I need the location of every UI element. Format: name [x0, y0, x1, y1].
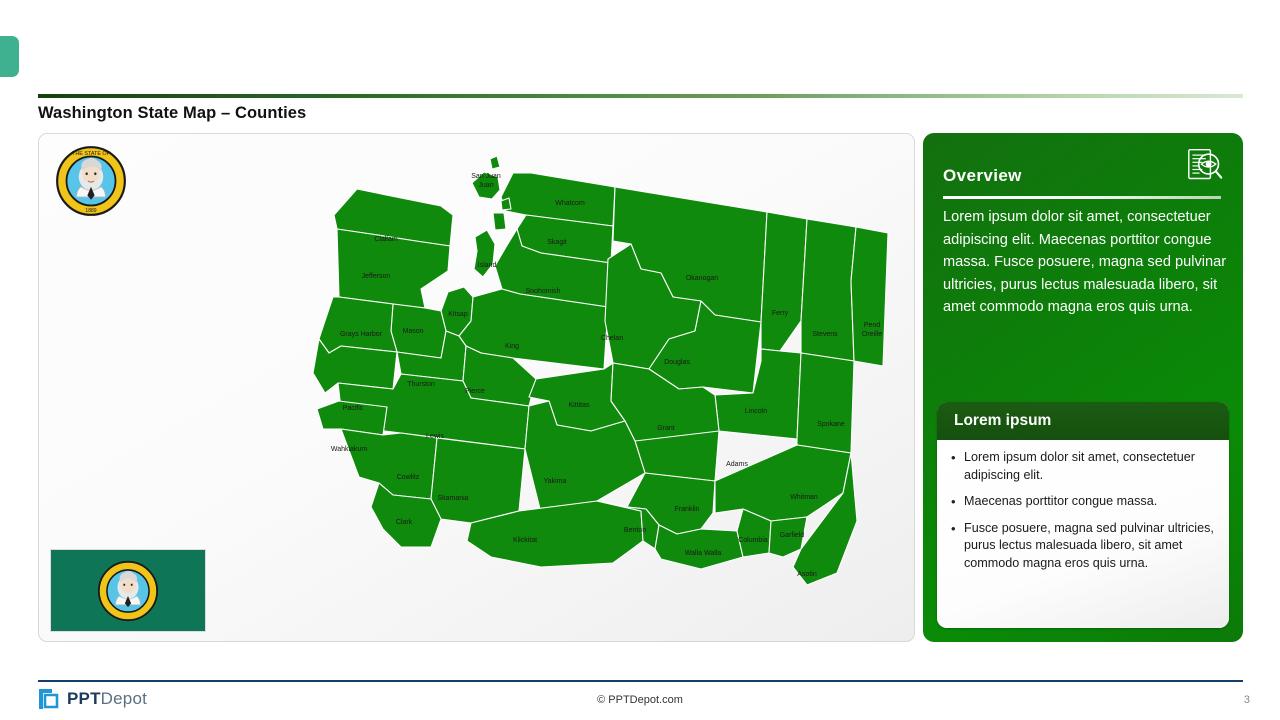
county-label: Mason [402, 328, 423, 335]
footer-divider-rule [38, 680, 1243, 682]
svg-text:THE STATE OF: THE STATE OF [72, 151, 111, 157]
county-label: Garfield [780, 532, 805, 539]
county-label: Yakima [544, 478, 567, 485]
document-review-icon [1185, 147, 1225, 183]
county-label: Douglas [664, 359, 690, 366]
list-item: • Lorem ipsum dolor sit amet, consectetu… [951, 449, 1215, 484]
overview-body-text: Lorem ipsum dolor sit amet, consectetuer… [943, 206, 1228, 319]
county-label: Spokane [817, 421, 845, 428]
county-label-pend: Pend [864, 322, 880, 329]
county-label: Skamania [437, 495, 468, 502]
county-label: Asotin [797, 571, 817, 578]
county-label: Pierce [465, 388, 485, 395]
county-label-2: Juan [478, 182, 493, 189]
overview-heading: Overview [943, 166, 1022, 186]
county-label: Jefferson [362, 273, 391, 280]
lorem-card-header: Lorem ipsum [937, 402, 1229, 440]
county-label: San Juan [471, 173, 501, 180]
county-label: Cowlitz [397, 474, 420, 481]
bullet-glyph: • [951, 449, 964, 484]
washington-state-flag-icon [50, 549, 206, 632]
county-label: Lincoln [745, 408, 767, 415]
lorem-card: Lorem ipsum • Lorem ipsum dolor sit amet… [937, 402, 1229, 628]
county-label: Kittitas [568, 402, 590, 409]
county-label: Whitman [790, 494, 818, 501]
list-item: • Fusce posuere, magna sed pulvinar ultr… [951, 520, 1215, 573]
map-canvas[interactable]: Whatcom San Juan Juan Skagit Okanogan Cl… [39, 134, 914, 641]
county-label: Benton [624, 527, 646, 534]
bullet-glyph: • [951, 493, 964, 511]
page-title: Washington State Map – Counties [38, 104, 306, 123]
county-label: Grant [657, 425, 675, 432]
map-panel: Whatcom San Juan Juan Skagit Okanogan Cl… [38, 133, 915, 642]
slide-canvas: Washington State Map – Counties [0, 0, 1280, 720]
svg-text:1889: 1889 [85, 208, 96, 214]
county-label: Franklin [675, 506, 700, 513]
county-label: Lewis [426, 433, 444, 440]
county-label: Stevens [812, 331, 838, 338]
county-label: Clark [396, 519, 413, 526]
bullet-glyph: • [951, 520, 964, 573]
county-label: Ferry [772, 310, 789, 317]
county-label: Kitsap [448, 311, 468, 318]
page-number: 3 [1244, 694, 1250, 706]
list-item: • Maecenas porttitor congue massa. [951, 493, 1215, 511]
county-label: Chelan [601, 335, 623, 342]
lorem-card-title: Lorem ipsum [954, 412, 1051, 430]
county-label: Grays Harbor [340, 331, 383, 338]
county-label: Pacific [343, 405, 364, 412]
bullet-text: Fusce posuere, magna sed pulvinar ultric… [964, 520, 1215, 573]
county-label: Thurston [407, 381, 435, 388]
header-divider-rule [38, 94, 1243, 98]
county-label: King [505, 343, 519, 350]
county-label: Klickitat [513, 537, 537, 544]
bullet-text: Lorem ipsum dolor sit amet, consectetuer… [964, 449, 1215, 484]
county-label: Wahkiakum [331, 446, 367, 453]
county-label: Snohomish [525, 288, 560, 295]
county-label: Clallam [374, 236, 398, 243]
county-label: Adams [726, 461, 748, 468]
county-label: Island [478, 262, 497, 269]
lorem-card-body: • Lorem ipsum dolor sit amet, consectetu… [937, 440, 1229, 628]
county-label: Skagit [547, 239, 567, 246]
bullet-text: Maecenas porttitor congue massa. [964, 493, 1157, 511]
flag-seal-emblem [97, 560, 159, 622]
county-label: Walla Walla [685, 550, 722, 557]
overview-panel: Overview Lorem ipsum dolor sit amet, con… [923, 133, 1243, 642]
corner-accent-tab [0, 36, 19, 77]
county-label: Columbia [738, 537, 768, 544]
county-label: Whatcom [555, 200, 585, 207]
overview-divider [943, 196, 1221, 199]
county-label-oreille: Oreille [862, 331, 882, 338]
copyright-text: © PPTDepot.com [0, 694, 1280, 706]
washington-state-seal-icon: THE STATE OF 1889 [55, 145, 127, 217]
county-label: Okanogan [686, 275, 718, 282]
